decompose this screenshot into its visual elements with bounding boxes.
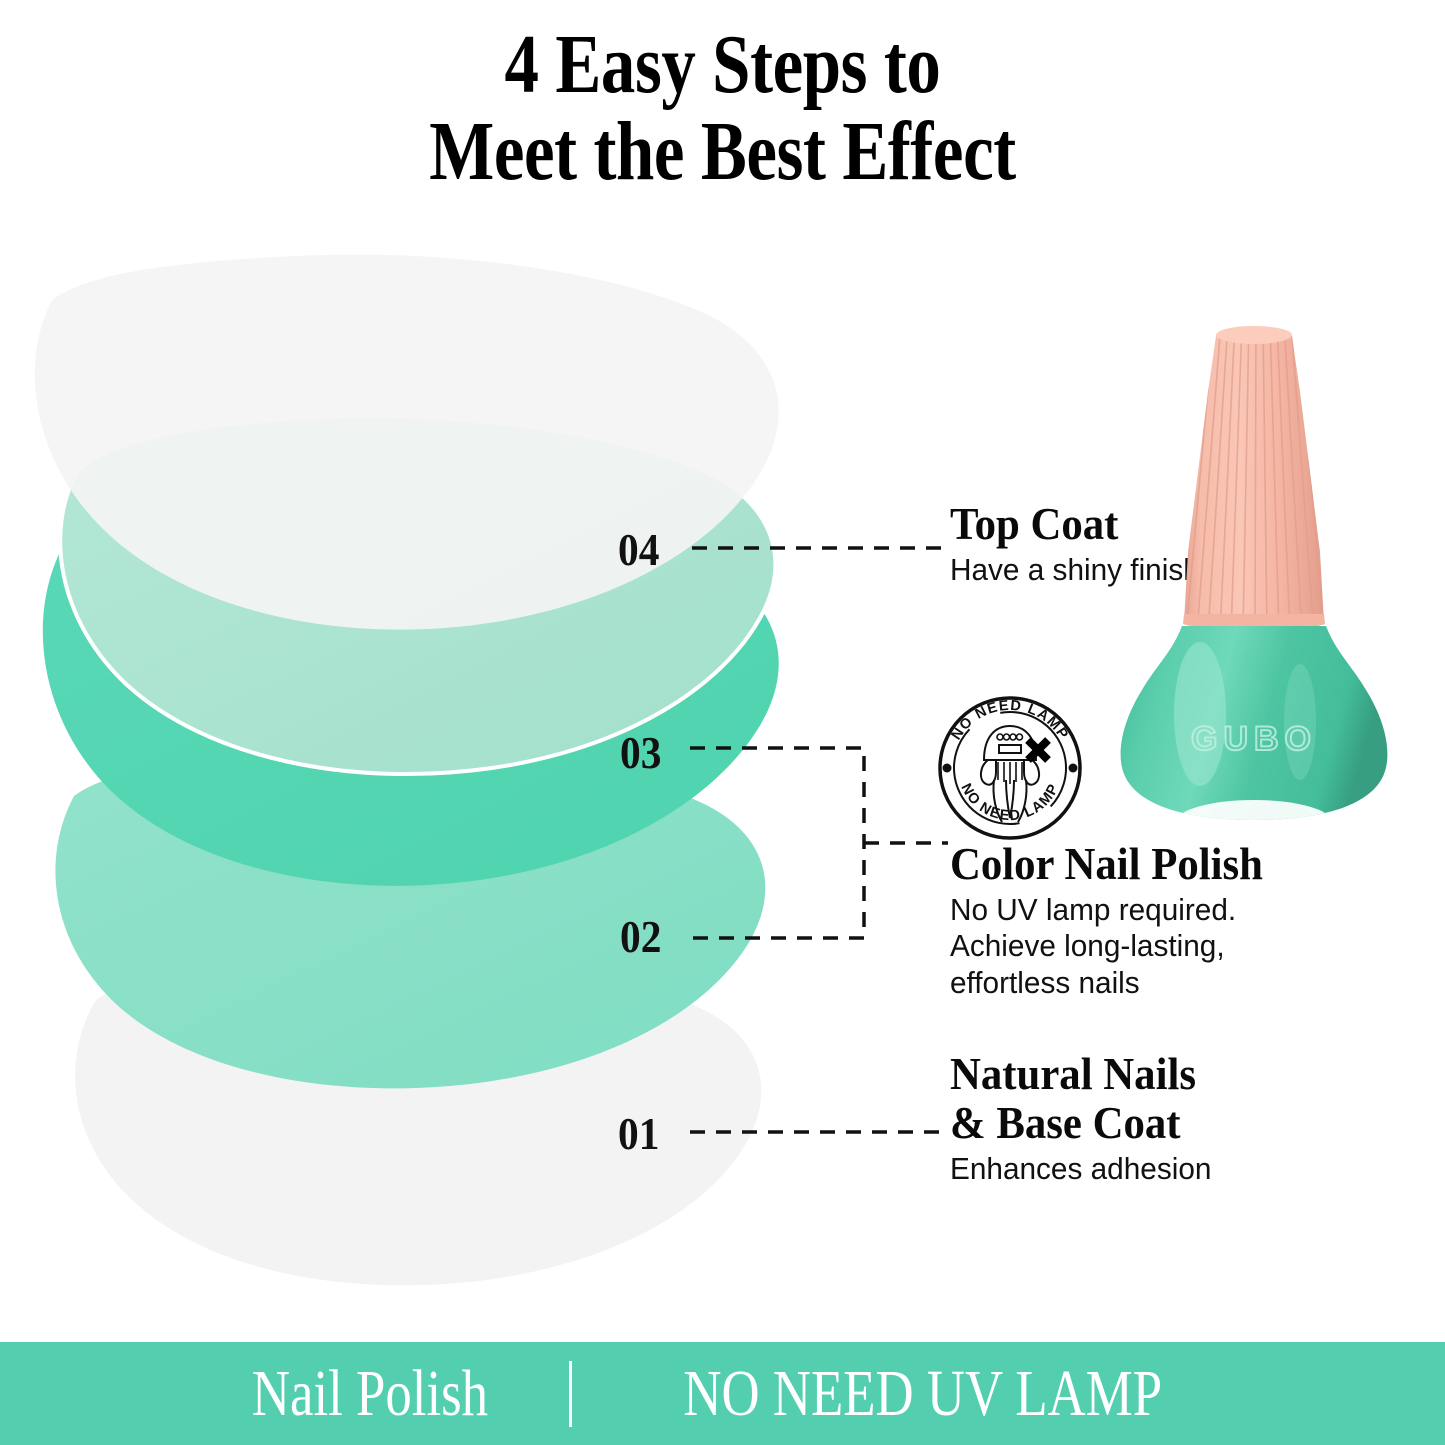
callout-color-nail-polish-sub-2: Achieve long-lasting, [950,928,1273,965]
callout-natural-nails-sub: Enhances adhesion [950,1151,1211,1188]
callout-color-nail-polish-title: Color Nail Polish [950,840,1263,889]
step-number-04: 04 [618,524,659,576]
step-number-02: 02 [620,911,661,963]
nail-layer-stack [0,0,880,1340]
callout-natural-nails-title-2: & Base Coat [950,1099,1203,1148]
callout-natural-nails: Natural Nails & Base Coat Enhances adhes… [950,1050,1222,1187]
banner-divider [569,1361,572,1427]
callout-color-nail-polish: Color Nail Polish No UV lamp required. A… [950,840,1287,1001]
callout-color-nail-polish-sub-3: effortless nails [950,965,1273,1002]
nail-polish-bottle-image: GUBO [1104,322,1404,842]
callout-natural-nails-title-1: Natural Nails [950,1050,1203,1099]
no-uv-lamp-badge-icon: NO NEED LAMP NO NEED LAMP [930,688,1090,848]
bottle-brand-emboss: GUBO [1191,720,1317,758]
bottle-body: GUBO [1121,626,1388,842]
banner-right-text: NO NEED UV LAMP [681,1356,1163,1432]
step-number-01: 01 [618,1108,659,1160]
bottle-cap [1183,322,1325,632]
step-number-03: 03 [620,727,661,779]
banner-left-text: Nail Polish [252,1356,491,1432]
bottom-banner: Nail Polish NO NEED UV LAMP [0,1342,1445,1445]
callout-color-nail-polish-sub-1: No UV lamp required. [950,892,1273,929]
